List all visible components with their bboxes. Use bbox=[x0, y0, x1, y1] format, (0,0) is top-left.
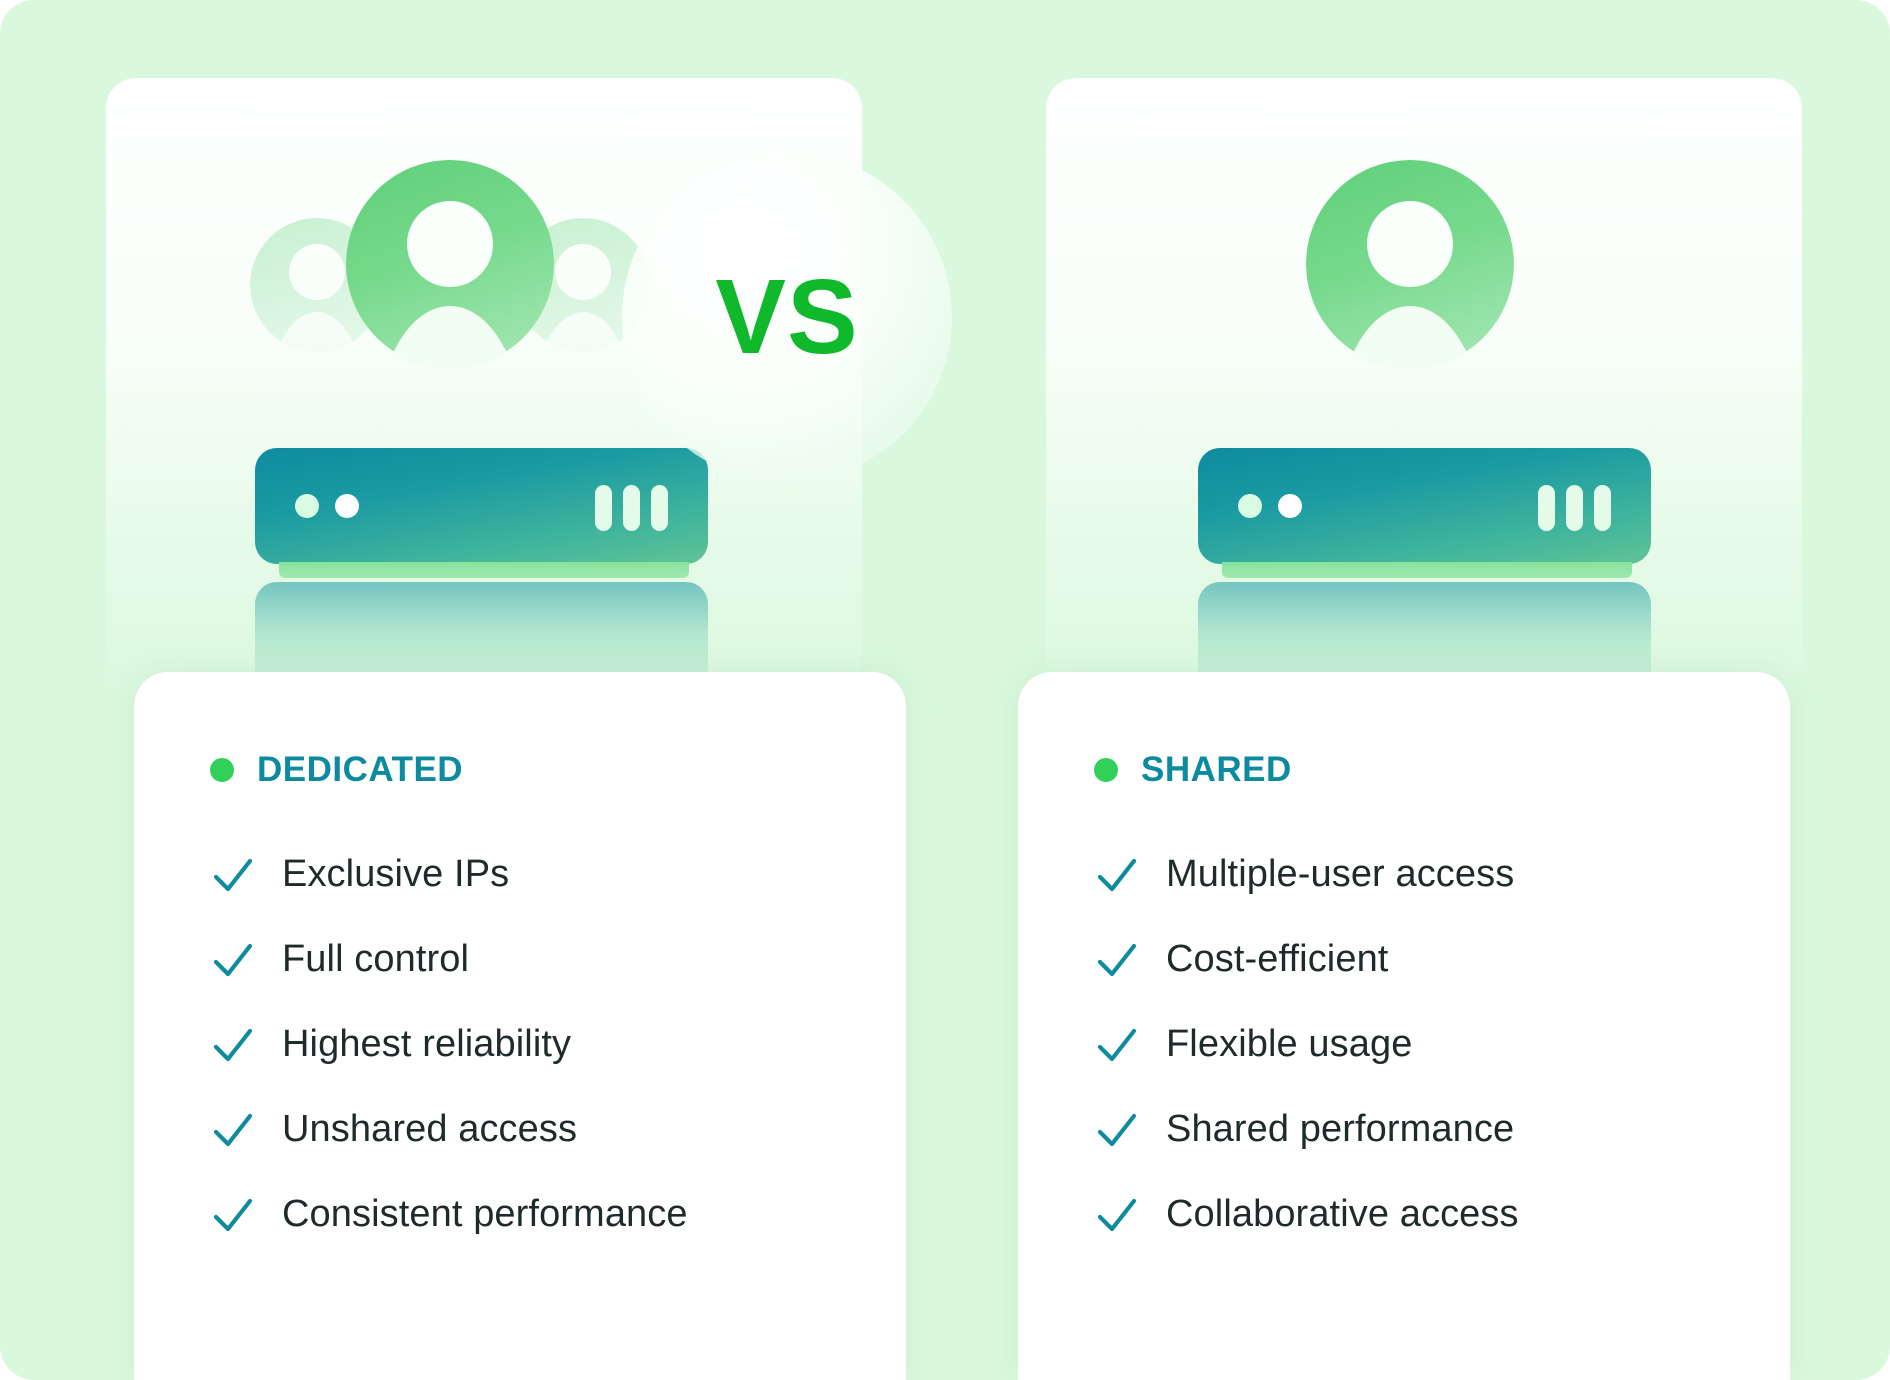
card-header-dedicated: DEDICATED bbox=[210, 750, 463, 790]
check-icon bbox=[210, 852, 256, 898]
list-item: Multiple-user access bbox=[1094, 832, 1760, 917]
feature-list-shared: Multiple-user access Cost-efficient Flex… bbox=[1094, 832, 1760, 1257]
check-icon bbox=[1094, 937, 1140, 983]
avatar-head bbox=[407, 201, 493, 287]
comparison-infographic: VS DEDICATED Exclusive IPs Full control bbox=[0, 0, 1890, 1380]
avatar-head bbox=[289, 244, 345, 300]
server-slot-3 bbox=[1594, 485, 1611, 531]
feature-label: Flexible usage bbox=[1166, 1023, 1412, 1066]
feature-label: Consistent performance bbox=[282, 1193, 688, 1236]
server-led-a bbox=[295, 494, 319, 518]
server-illustration-dedicated bbox=[255, 448, 795, 688]
feature-label: Exclusive IPs bbox=[282, 853, 509, 896]
server-slot-2 bbox=[1566, 485, 1583, 531]
feature-label: Highest reliability bbox=[282, 1023, 571, 1066]
feature-label: Collaborative access bbox=[1166, 1193, 1519, 1236]
feature-card-dedicated: DEDICATED Exclusive IPs Full control Hig… bbox=[134, 672, 906, 1380]
list-item: Consistent performance bbox=[210, 1172, 876, 1257]
server-slot-2 bbox=[623, 485, 640, 531]
feature-label: Cost-efficient bbox=[1166, 938, 1388, 981]
server-slot-1 bbox=[1538, 485, 1555, 531]
server-base-right bbox=[1222, 562, 1632, 578]
check-icon bbox=[1094, 1022, 1140, 1068]
feature-label: Unshared access bbox=[282, 1108, 577, 1151]
check-icon bbox=[1094, 1192, 1140, 1238]
server-led-b bbox=[335, 494, 359, 518]
server-slot-1-reflection bbox=[255, 630, 272, 676]
check-icon bbox=[210, 1107, 256, 1153]
server-slot-3 bbox=[651, 485, 668, 531]
status-dot-icon bbox=[1094, 758, 1118, 782]
check-icon bbox=[210, 1022, 256, 1068]
list-item: Shared performance bbox=[1094, 1087, 1760, 1172]
check-icon bbox=[210, 1192, 256, 1238]
card-title-dedicated: DEDICATED bbox=[257, 750, 463, 790]
feature-list-dedicated: Exclusive IPs Full control Highest relia… bbox=[210, 832, 876, 1257]
user-avatar-primary bbox=[1306, 160, 1514, 368]
list-item: Highest reliability bbox=[210, 1002, 876, 1087]
check-icon bbox=[210, 937, 256, 983]
avatar-head bbox=[555, 244, 611, 300]
list-item: Collaborative access bbox=[1094, 1172, 1760, 1257]
card-title-shared: SHARED bbox=[1141, 750, 1292, 790]
list-item: Exclusive IPs bbox=[210, 832, 876, 917]
user-avatar-primary bbox=[346, 160, 554, 368]
server-base-left bbox=[279, 562, 689, 578]
list-item: Flexible usage bbox=[1094, 1002, 1760, 1087]
single-user-icon bbox=[1306, 160, 1536, 390]
feature-label: Full control bbox=[282, 938, 469, 981]
server-slot-1-reflection bbox=[1198, 630, 1215, 676]
vs-badge: VS bbox=[622, 152, 952, 482]
feature-label: Shared performance bbox=[1166, 1108, 1514, 1151]
server-led-b bbox=[1278, 494, 1302, 518]
avatar-head bbox=[1367, 201, 1453, 287]
server-led-b-reflection bbox=[255, 606, 279, 630]
server-slot-1 bbox=[595, 485, 612, 531]
list-item: Unshared access bbox=[210, 1087, 876, 1172]
feature-label: Multiple-user access bbox=[1166, 853, 1514, 896]
check-icon bbox=[1094, 1107, 1140, 1153]
check-icon bbox=[1094, 852, 1140, 898]
multiple-users-icon bbox=[250, 160, 650, 390]
card-header-shared: SHARED bbox=[1094, 750, 1292, 790]
server-led-a-reflection bbox=[1198, 582, 1222, 606]
server-led-a bbox=[1238, 494, 1262, 518]
server-illustration-shared bbox=[1198, 448, 1738, 688]
server-led-b-reflection bbox=[1198, 606, 1222, 630]
status-dot-icon bbox=[210, 758, 234, 782]
list-item: Full control bbox=[210, 917, 876, 1002]
server-unit-left bbox=[255, 448, 708, 564]
server-unit-right bbox=[1198, 448, 1651, 564]
server-led-a-reflection bbox=[255, 582, 279, 606]
feature-card-shared: SHARED Multiple-user access Cost-efficie… bbox=[1018, 672, 1790, 1380]
list-item: Cost-efficient bbox=[1094, 917, 1760, 1002]
vs-label: VS bbox=[715, 264, 858, 370]
